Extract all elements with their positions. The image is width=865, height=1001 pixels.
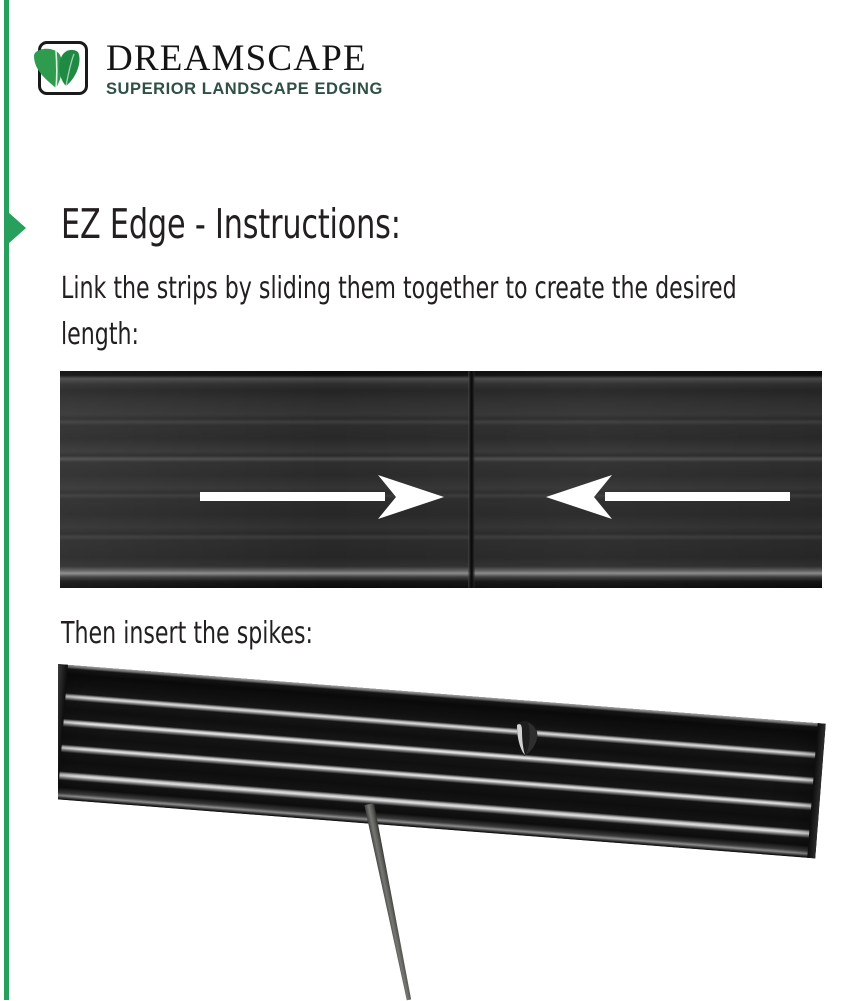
left-accent-rail	[4, 0, 9, 1000]
intro-paragraph: Link the strips by sliding them together…	[61, 266, 783, 357]
figure-insert-spike	[58, 650, 848, 1000]
figure-link-strips	[60, 371, 822, 588]
brand-name: DREAMSCAPE	[106, 40, 383, 78]
strip-left-end-cap	[58, 664, 68, 799]
spike-caption: Then insert the spikes:	[61, 616, 313, 651]
brand-header: DREAMSCAPE SUPERIOR LANDSCAPE EDGING	[30, 38, 383, 100]
spike-hole-knob-icon	[511, 718, 540, 758]
strip-right-end-cap	[807, 723, 825, 858]
page-title: EZ Edge - Instructions:	[61, 200, 401, 248]
arrow-right-icon	[200, 471, 450, 523]
arrow-left-icon	[540, 471, 790, 523]
edging-strip-angled	[58, 664, 826, 858]
logo-wordmark: DREAMSCAPE SUPERIOR LANDSCAPE EDGING	[106, 40, 383, 97]
brand-tagline: SUPERIOR LANDSCAPE EDGING	[106, 81, 383, 98]
triangle-right-marker-icon	[8, 212, 26, 244]
strip-joint-seam	[468, 371, 475, 588]
two-leaves-in-rounded-square-icon	[30, 38, 92, 100]
